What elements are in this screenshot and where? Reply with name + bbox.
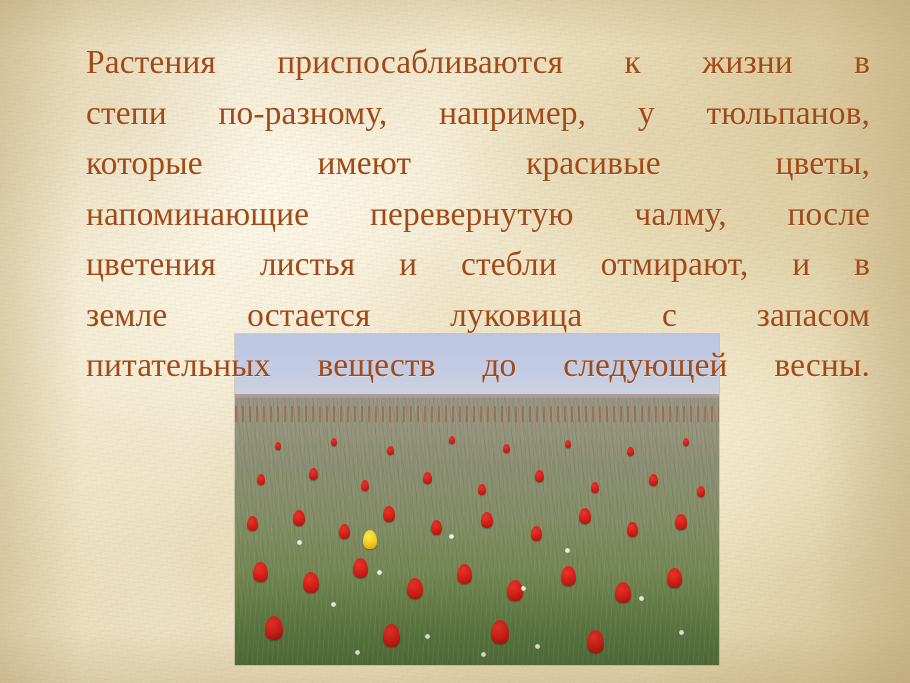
tulip: [507, 580, 523, 601]
slide-body-text: Растения приспосабливаются к жизни в сте…: [86, 38, 870, 392]
tulip: [478, 484, 486, 495]
photo-distant-tulip-band: [235, 406, 719, 422]
tulip: [431, 520, 442, 535]
white-flower: [331, 602, 336, 607]
tulip: [503, 444, 510, 453]
white-flower: [639, 596, 644, 601]
photo-grass-texture: [235, 398, 719, 665]
tulip: [253, 562, 268, 582]
tulip: [615, 582, 631, 603]
tulip: [303, 572, 319, 593]
tulip: [491, 620, 509, 644]
tulip: [331, 438, 337, 446]
white-flower: [355, 650, 360, 655]
tulip: [531, 526, 542, 541]
text-line: земле остается луковица с запасом: [86, 291, 870, 342]
tulip: [293, 510, 305, 526]
white-flower: [449, 534, 454, 539]
tulip: [627, 522, 638, 537]
white-flower: [565, 548, 570, 553]
tulip: [565, 440, 571, 448]
tulip: [591, 482, 599, 493]
text-line: напоминающие перевернутую чалму, после: [86, 190, 870, 241]
text-line: Растения приспосабливаются к жизни в: [86, 38, 870, 89]
white-flower: [377, 570, 382, 575]
white-flower: [481, 652, 486, 657]
photo-field: [235, 398, 719, 665]
white-flower: [425, 634, 430, 639]
tulip: [339, 524, 350, 539]
slide-canvas: Растения приспосабливаются к жизни в сте…: [0, 0, 910, 683]
tulip: [649, 474, 658, 486]
white-flower: [679, 630, 684, 635]
tulip: [675, 514, 687, 530]
tulip: [257, 474, 265, 485]
tulip: [683, 438, 689, 446]
text-line: степи по-разному, например, у тюльпанов,: [86, 89, 870, 140]
white-flower: [535, 644, 540, 649]
tulip: [627, 447, 634, 456]
text-line: питательных веществ до следующей весны.: [86, 341, 870, 392]
text-line: цветения листья и стебли отмирают, и в: [86, 240, 870, 291]
tulip: [697, 486, 705, 497]
tulip: [449, 436, 455, 444]
tulip: [383, 506, 395, 522]
tulip: [361, 480, 369, 491]
tulip: [423, 472, 432, 484]
tulip-yellow: [363, 530, 377, 549]
tulip: [457, 564, 472, 584]
tulip: [561, 566, 576, 586]
tulip: [353, 558, 368, 578]
tulip: [275, 442, 281, 450]
text-line: которые имеют красивые цветы,: [86, 139, 870, 190]
tulip: [579, 508, 591, 524]
tulip: [309, 468, 318, 480]
tulip: [407, 578, 423, 599]
tulip: [481, 512, 493, 528]
tulip: [383, 624, 400, 647]
tulip: [265, 616, 283, 640]
white-flower: [521, 586, 526, 591]
tulip: [247, 516, 258, 531]
tulip: [535, 470, 544, 482]
tulip: [587, 630, 604, 653]
tulip: [387, 446, 394, 455]
white-flower: [297, 540, 302, 545]
tulip: [667, 568, 682, 588]
